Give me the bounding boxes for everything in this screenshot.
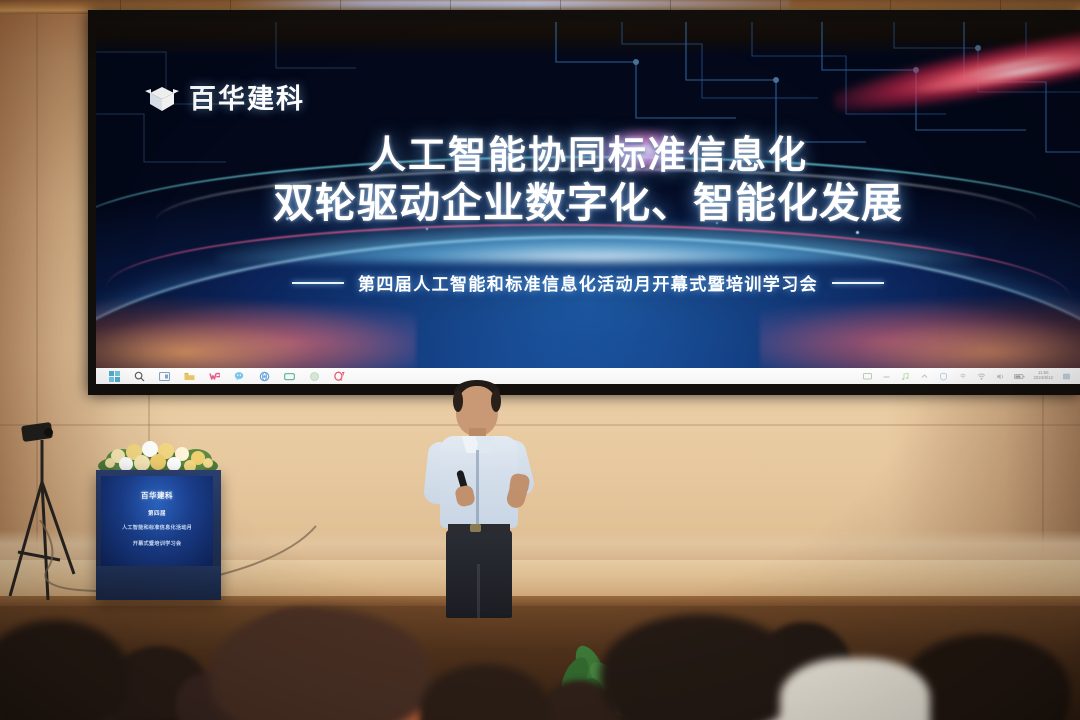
led-screen[interactable]: 百华建科 人工智能协同标准信息化 双轮驱动企业数字化、智能化发展 第四届人工智能… — [96, 22, 1080, 384]
browser-icon[interactable] — [252, 368, 277, 384]
meeting-icon[interactable] — [277, 368, 302, 384]
tray-dash-icon[interactable] — [877, 368, 896, 384]
tray-up-arrow-icon[interactable] — [915, 368, 934, 384]
slide-logo-text: 百华建科 — [189, 86, 305, 113]
show-desktop-button[interactable] — [1057, 368, 1076, 384]
belt-buckle — [470, 524, 481, 532]
audience-body — [780, 658, 930, 720]
podium-display[interactable]: 百华建科 第四届 人工智能和标准信息化活动月 开幕式暨培训学习会 — [101, 476, 213, 568]
tray-battery-icon[interactable] — [1010, 368, 1029, 384]
ceiling-light-glow — [230, 0, 790, 9]
baihua-cube-logo-icon — [144, 84, 180, 114]
audience-head — [210, 608, 430, 720]
slide-brand-logo: 百华建科 — [144, 84, 305, 114]
audience-head — [0, 620, 130, 720]
podium-line3: 开幕式暨培训学习会 — [101, 540, 213, 547]
podium-line1: 第四届 — [101, 509, 213, 517]
task-view-icon[interactable] — [152, 368, 177, 384]
subtitle-rule-right — [832, 282, 884, 284]
audience-head — [420, 664, 550, 720]
city-lights-right — [760, 296, 1080, 370]
tray-volume-icon[interactable] — [991, 368, 1010, 384]
tray-monitor-icon[interactable] — [858, 368, 877, 384]
slide-subtitle: 第四届人工智能和标准信息化活动月开幕式暨培训学习会 — [358, 270, 818, 295]
taskbar-system-tray: 中 11:56 2024/8/12 — [858, 368, 1080, 384]
tray-input-icon[interactable]: 中 — [953, 368, 972, 384]
taskbar-left-icons — [96, 368, 352, 384]
taskbar-clock[interactable]: 11:56 2024/8/12 — [1029, 371, 1057, 381]
tray-note-icon[interactable] — [896, 368, 915, 384]
qq-icon[interactable] — [327, 368, 352, 384]
wechat-icon[interactable] — [227, 368, 252, 384]
slide-title: 人工智能协同标准信息化 双轮驱动企业数字化、智能化发展 — [96, 134, 1080, 227]
conference-stage-photo: 百华建科 人工智能协同标准信息化 双轮驱动企业数字化、智能化发展 第四届人工智能… — [0, 0, 1080, 720]
slide-title-line1: 人工智能协同标准信息化 — [96, 134, 1080, 179]
city-lights-left — [96, 296, 416, 370]
presentation-slide: 百华建科 人工智能协同标准信息化 双轮驱动企业数字化、智能化发展 第四届人工智能… — [96, 22, 1080, 370]
slide-title-line2: 双轮驱动企业数字化、智能化发展 — [96, 179, 1080, 227]
tray-network-icon[interactable] — [972, 368, 991, 384]
search-icon[interactable] — [127, 368, 152, 384]
camera-lens-icon — [44, 428, 53, 437]
audience-front-row — [0, 600, 1080, 720]
wps-office-icon[interactable] — [202, 368, 227, 384]
app-icon[interactable] — [302, 368, 327, 384]
subtitle-rule-left — [292, 282, 344, 284]
file-explorer-icon[interactable] — [177, 368, 202, 384]
windows-taskbar[interactable]: 中 11:56 2024/8/12 — [96, 368, 1080, 384]
podium-line2: 人工智能和标准信息化活动月 — [101, 524, 213, 531]
start-icon[interactable] — [102, 368, 127, 384]
podium-logo-text: 百华建科 — [101, 490, 213, 501]
clock-date: 2024/8/12 — [1033, 376, 1053, 381]
slide-subtitle-row: 第四届人工智能和标准信息化活动月开幕式暨培训学习会 — [96, 270, 1080, 295]
audience-head — [600, 614, 800, 720]
tray-shield-icon[interactable] — [934, 368, 953, 384]
